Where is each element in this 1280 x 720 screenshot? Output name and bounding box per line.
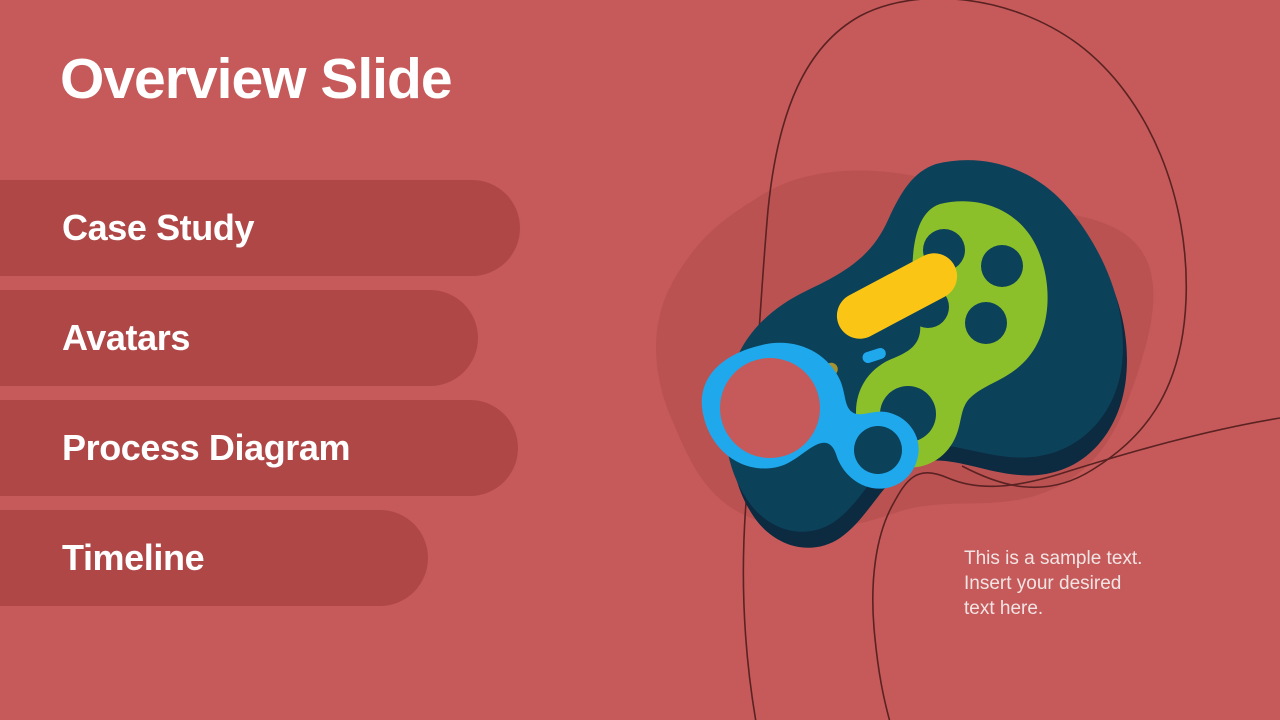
sample-text-block: This is a sample text. Insert your desir… (964, 546, 1174, 621)
slide-canvas: Overview Slide Case Study Avatars Proces… (0, 0, 1280, 720)
small-ring-hole (854, 426, 902, 474)
game-controller-icon (640, 150, 1160, 550)
menu-item-timeline[interactable]: Timeline (0, 510, 428, 606)
gamepad-button-hole (965, 302, 1007, 344)
menu-item-label: Case Study (0, 207, 254, 249)
menu-item-label: Timeline (0, 537, 204, 579)
analog-ring-hole (720, 358, 820, 458)
menu-item-case-study[interactable]: Case Study (0, 180, 520, 276)
menu-item-label: Process Diagram (0, 427, 350, 469)
menu-item-label: Avatars (0, 317, 190, 359)
menu-item-avatars[interactable]: Avatars (0, 290, 478, 386)
page-title: Overview Slide (60, 46, 452, 112)
menu-item-process-diagram[interactable]: Process Diagram (0, 400, 518, 496)
sample-text-line-1: This is a sample text. (964, 546, 1174, 571)
gamepad-button-hole (981, 245, 1023, 287)
overview-menu: Case Study Avatars Process Diagram Timel… (0, 180, 560, 620)
sample-text-line-3: text here. (964, 596, 1174, 621)
sample-text-line-2: Insert your desired (964, 571, 1174, 596)
